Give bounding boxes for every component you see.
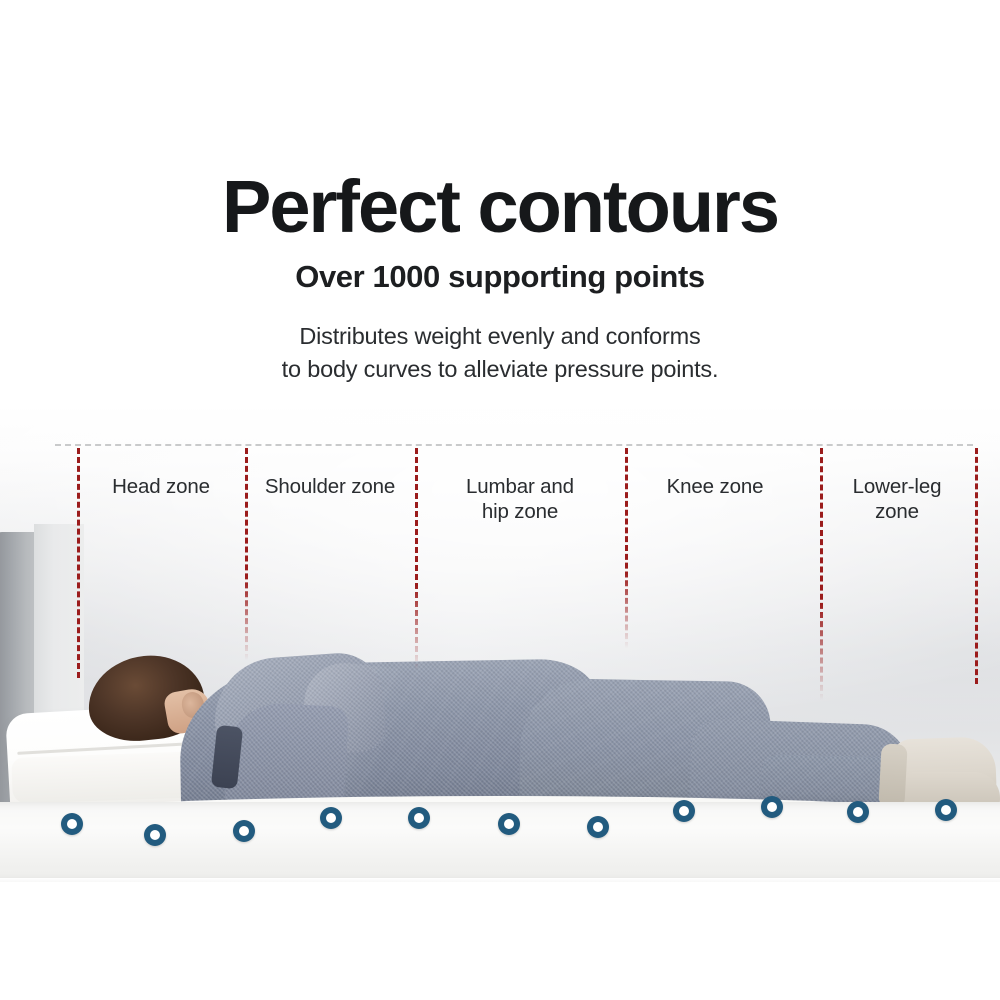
support-point-center: [767, 802, 777, 812]
support-point-marker: [673, 800, 695, 822]
support-point-center: [593, 822, 603, 832]
support-point-marker: [144, 824, 166, 846]
support-point-center: [239, 826, 249, 836]
support-point-marker: [761, 796, 783, 818]
support-point-center: [941, 805, 951, 815]
support-point-marker: [935, 799, 957, 821]
support-point-marker: [587, 816, 609, 838]
support-point-center: [414, 813, 424, 823]
support-point-center: [504, 819, 514, 829]
support-point-center: [679, 806, 689, 816]
support-point-center: [326, 813, 336, 823]
support-point-center: [67, 819, 77, 829]
support-point-marker: [61, 813, 83, 835]
support-point-marker: [408, 807, 430, 829]
support-point-marker: [233, 820, 255, 842]
support-point-marker: [847, 801, 869, 823]
support-point-marker-layer: [0, 0, 1000, 1000]
support-point-center: [150, 830, 160, 840]
promo-banner: Perfect contours Over 1000 supporting po…: [0, 0, 1000, 1000]
support-point-marker: [498, 813, 520, 835]
support-point-center: [853, 807, 863, 817]
support-point-marker: [320, 807, 342, 829]
